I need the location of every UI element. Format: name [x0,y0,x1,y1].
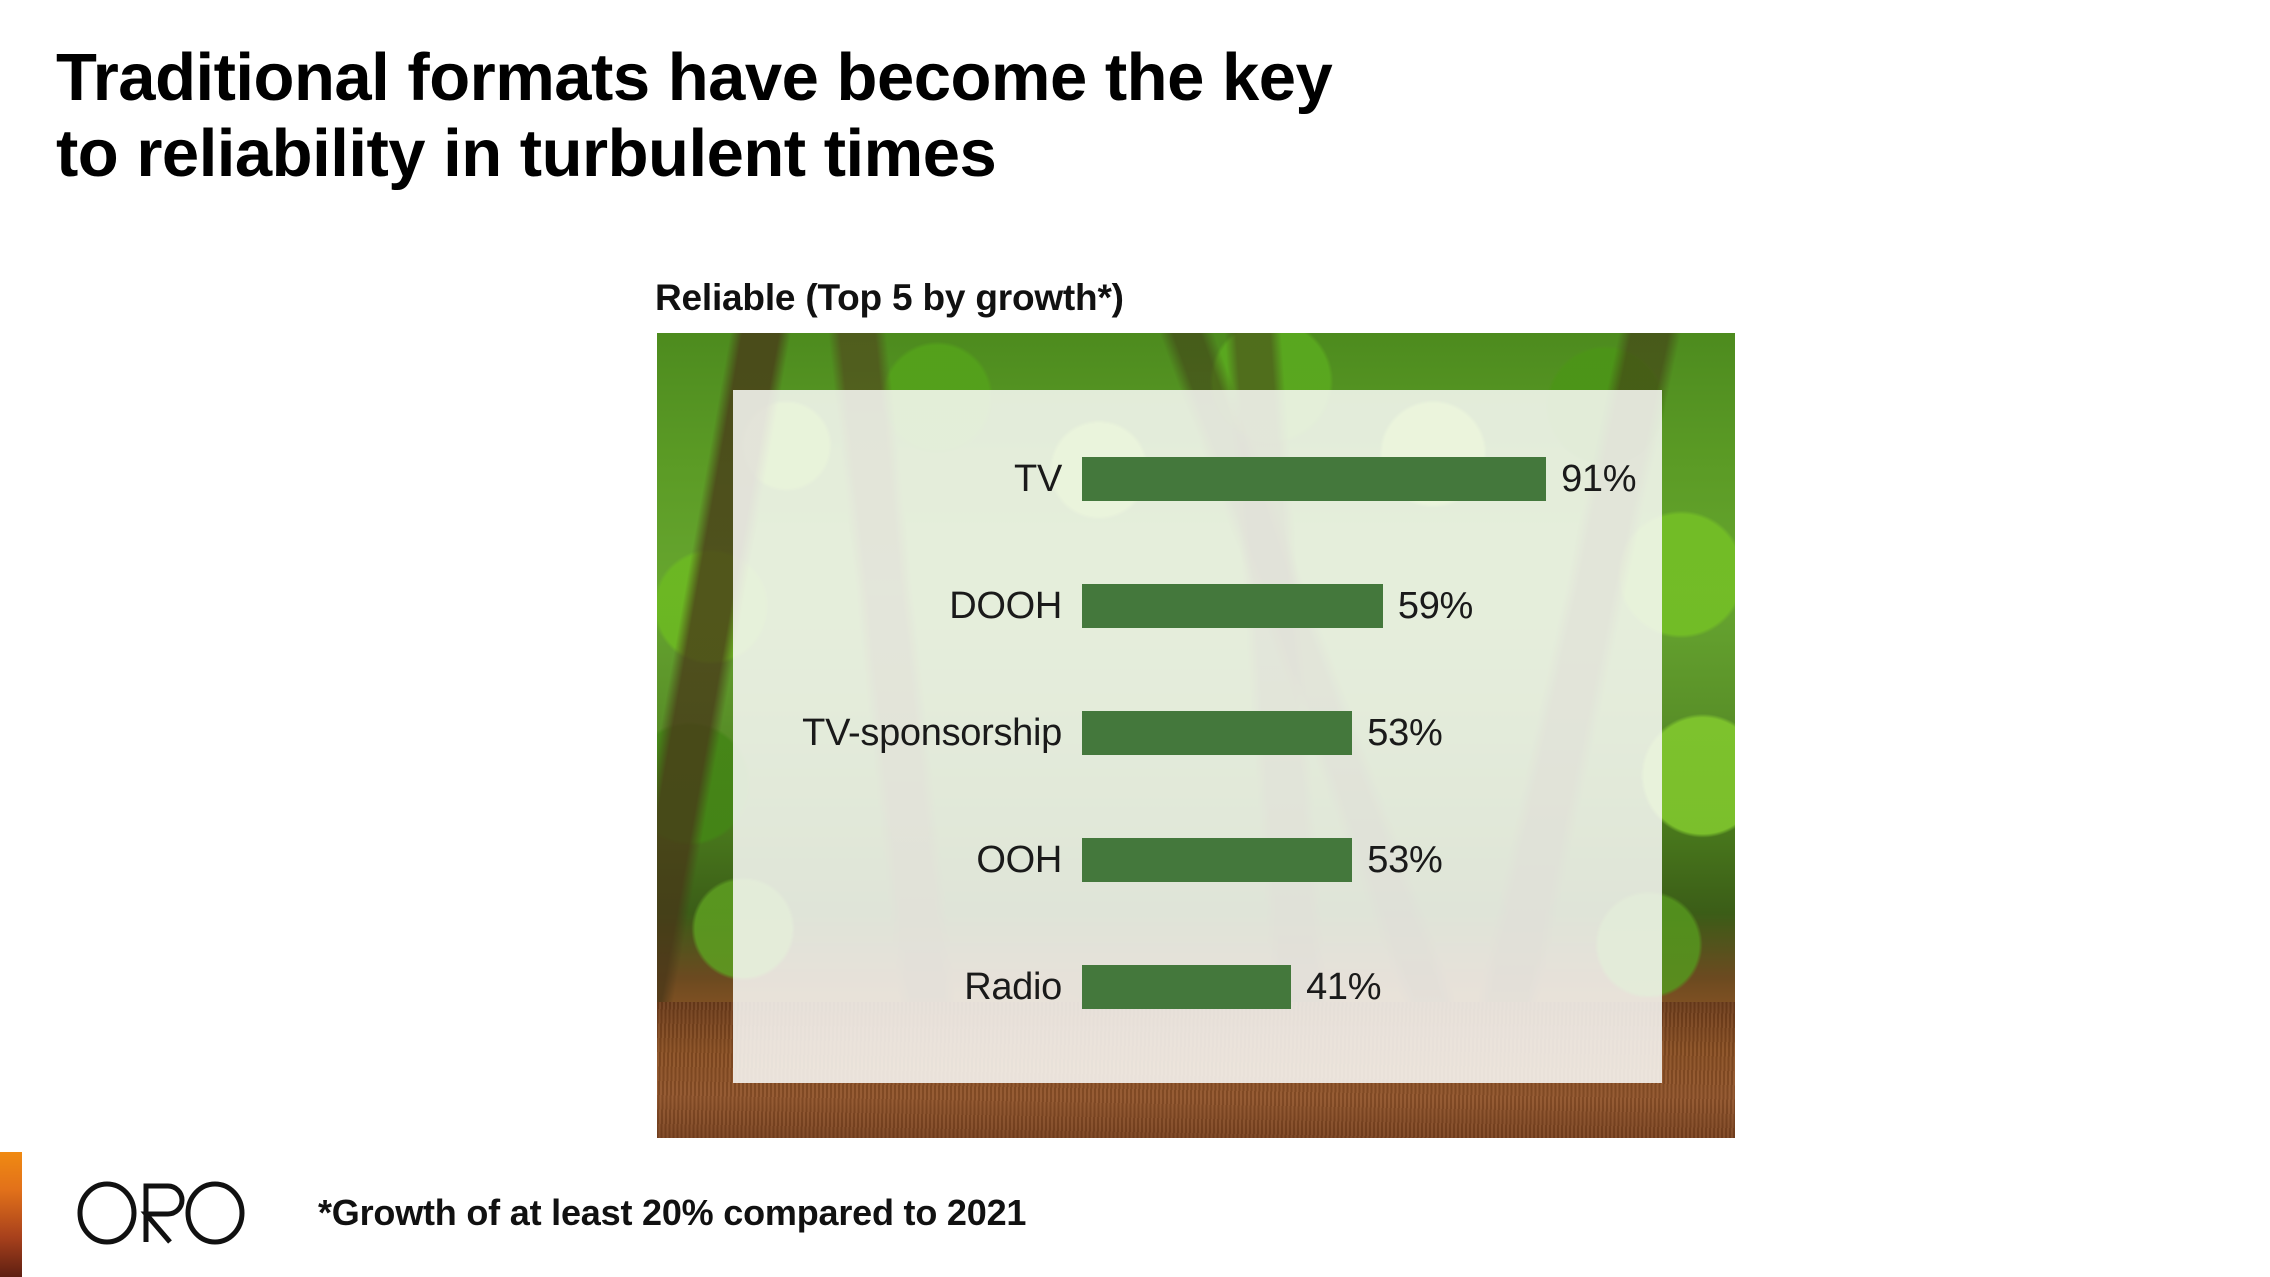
bar-fill [1082,838,1352,882]
bar-row: DOOH59% [733,584,1662,628]
chart-title: Reliable (Top 5 by growth*) [655,277,1124,319]
oro-logo [76,1180,246,1246]
bar-category-label: TV-sponsorship [742,711,1062,755]
bar-track: 41% [1082,965,1381,1009]
bar-row: TV-sponsorship53% [733,711,1662,755]
bar-row: Radio41% [733,965,1662,1009]
bar-category-label: Radio [742,965,1062,1009]
page-title: Traditional formats have become the key … [56,40,1656,193]
bar-row: TV91% [733,457,1662,501]
bar-track: 53% [1082,838,1442,882]
bar-fill [1082,584,1383,628]
bar-track: 53% [1082,711,1442,755]
bar-chart: TV91%DOOH59%TV-sponsorship53%OOH53%Radio… [733,390,1662,1083]
bar-value-label: 53% [1367,838,1442,882]
bar-track: 91% [1082,457,1636,501]
bar-row: OOH53% [733,838,1662,882]
chart-panel: TV91%DOOH59%TV-sponsorship53%OOH53%Radio… [733,390,1662,1083]
bar-value-label: 91% [1561,457,1636,501]
bar-track: 59% [1082,584,1473,628]
bar-value-label: 53% [1367,711,1442,755]
accent-stripe [0,1152,22,1277]
footnote-text: *Growth of at least 20% compared to 2021 [318,1192,1026,1234]
bar-value-label: 41% [1306,965,1381,1009]
bar-fill [1082,965,1291,1009]
bar-fill [1082,457,1546,501]
bar-category-label: OOH [742,838,1062,882]
bar-fill [1082,711,1352,755]
bar-value-label: 59% [1398,584,1473,628]
bar-category-label: TV [742,457,1062,501]
bar-category-label: DOOH [742,584,1062,628]
